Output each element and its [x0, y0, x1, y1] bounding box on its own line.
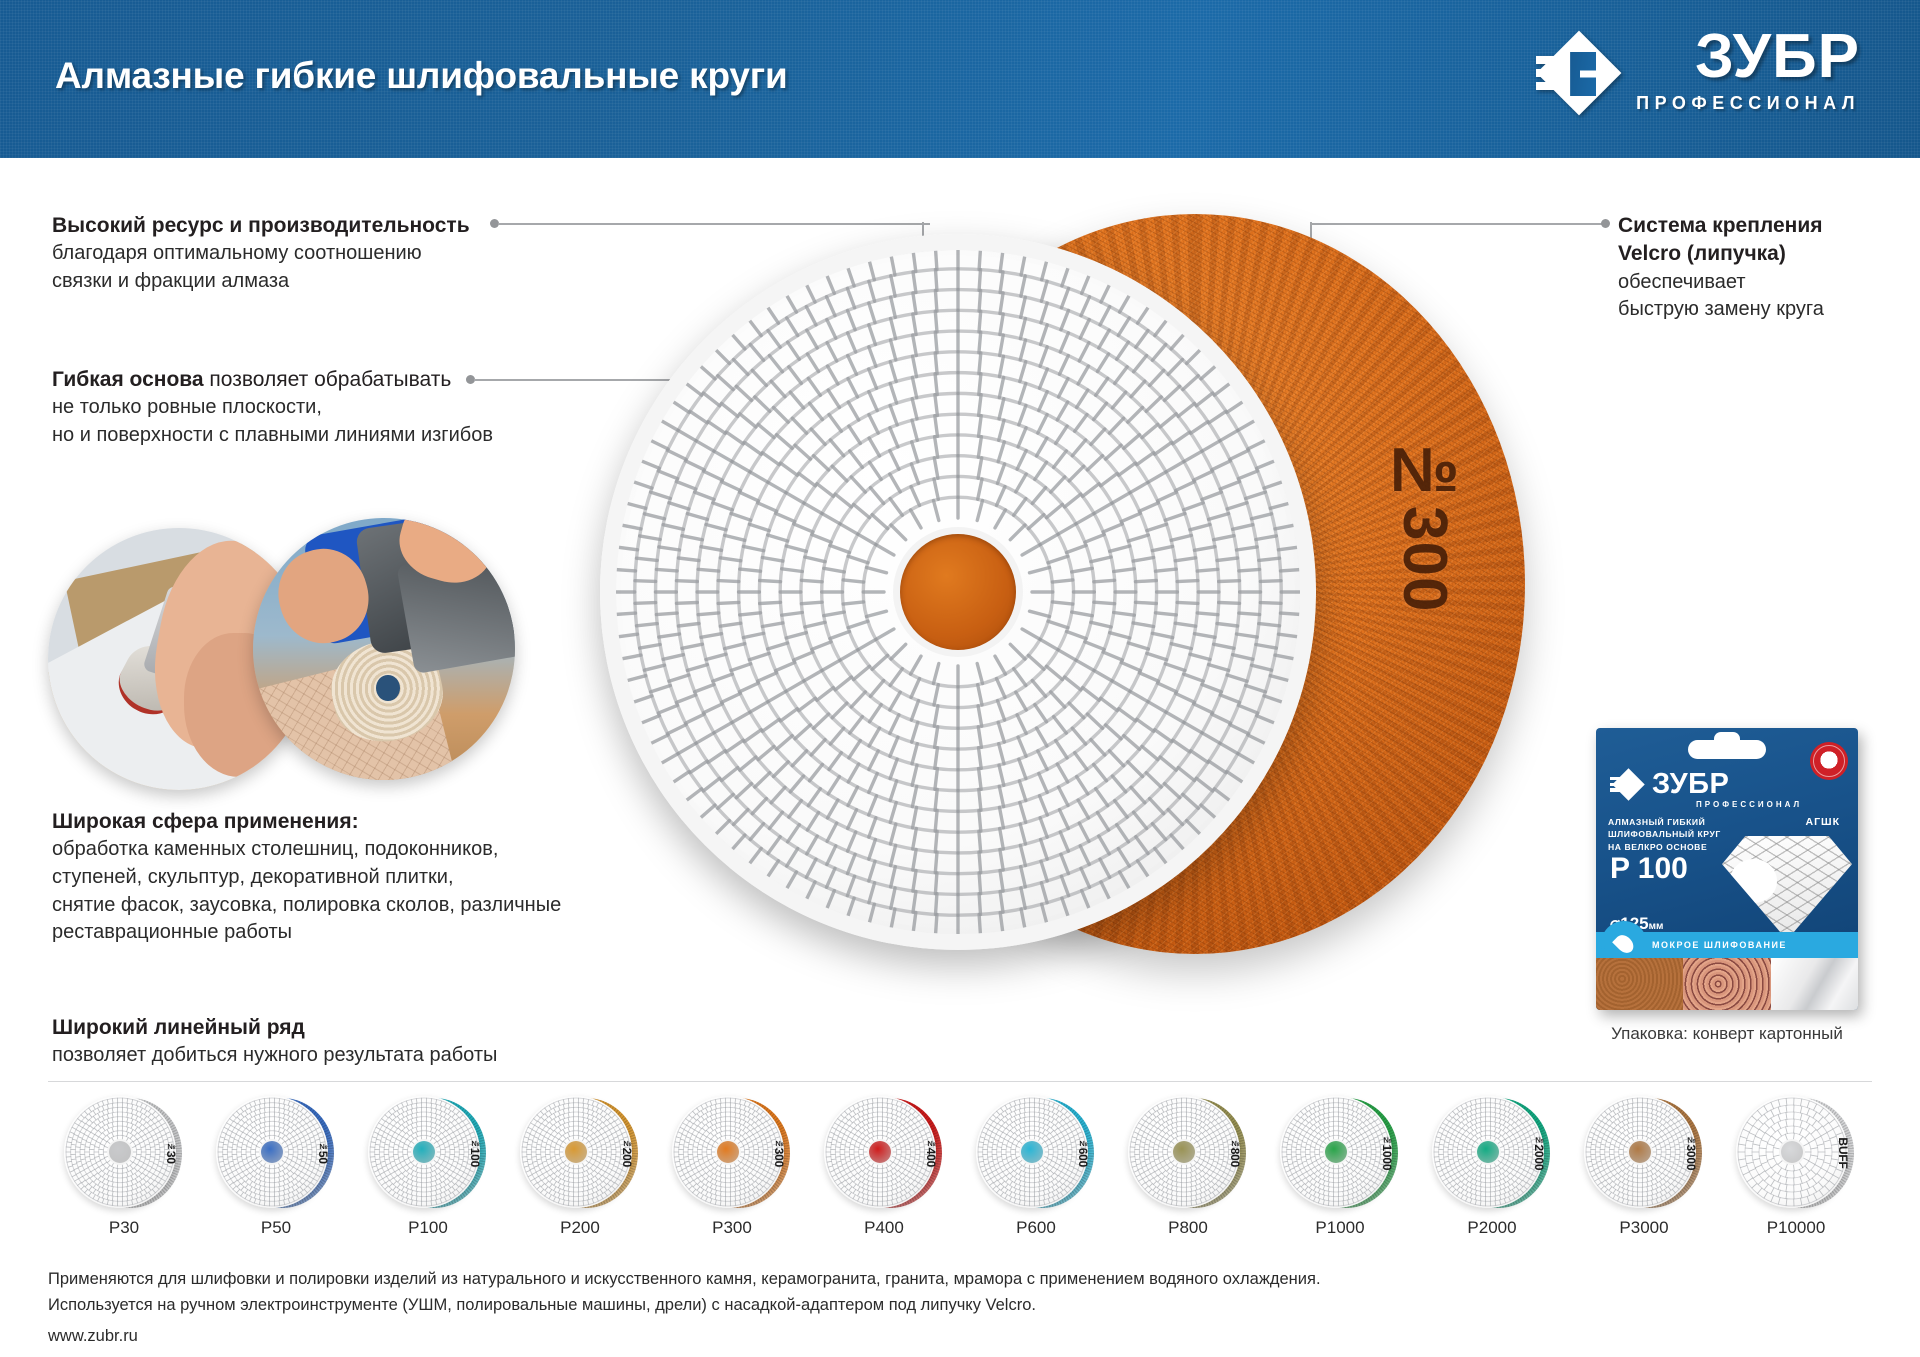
material-strip — [1596, 958, 1858, 1010]
lineup-item-p200[interactable]: №200P200 — [504, 1090, 656, 1260]
zubr-diamond-icon — [1610, 766, 1646, 802]
footer-line-2: Используется на ручном электроинструмент… — [48, 1292, 1748, 1318]
lineup-item-p2000[interactable]: №2000P2000 — [1416, 1090, 1568, 1260]
disc-center-hole — [1781, 1141, 1803, 1163]
callout-body: не только ровные плоскости, но и поверхн… — [52, 394, 522, 449]
lineup-item-p10000[interactable]: BUFFP10000 — [1720, 1090, 1872, 1260]
disc-center-hole — [413, 1141, 435, 1163]
disc-grit-label: P600 — [1016, 1218, 1056, 1238]
callout-body: благодаря оптимальному соотношению связк… — [52, 240, 522, 295]
page-header: Алмазные гибкие шлифовальные круги ЗУБР … — [0, 0, 1920, 158]
disc-thumbnail: №400 — [824, 1094, 944, 1212]
disc-grit-label: P400 — [864, 1218, 904, 1238]
wet-grinding-banner: МОКРОЕ ШЛИФОВАНИЕ — [1596, 932, 1858, 958]
package-block: ЗУБР ПРОФЕССИОНАЛ АЛМАЗНЫЙ ГИБКИЙ ШЛИФОВ… — [1596, 728, 1858, 1044]
disc-grit-mark: №50 — [316, 1142, 330, 1164]
callout-high-resource: Высокий ресурс и производительность благ… — [52, 212, 522, 296]
page-title: Алмазные гибкие шлифовальные круги — [55, 55, 788, 97]
disc-face — [1128, 1096, 1240, 1208]
disc-grit-mark: №1000 — [1380, 1136, 1394, 1171]
callout-title: Высокий ресурс и производительность — [52, 212, 522, 240]
lineup-item-p1000[interactable]: №1000P1000 — [1264, 1090, 1416, 1260]
disc-thumbnail: №800 — [1128, 1094, 1248, 1212]
disc-center-hole — [1173, 1141, 1195, 1163]
disc-thumbnail: №30 — [64, 1094, 184, 1212]
callout-title: Система крепления Velcro (липучка) — [1618, 212, 1908, 269]
brand-name: ЗУБР — [1695, 28, 1860, 87]
lineup-heading: Широкий линейный ряд позволяет добиться … — [52, 1014, 612, 1070]
disc-grit-label: P200 — [560, 1218, 600, 1238]
lineup-item-p400[interactable]: №400P400 — [808, 1090, 960, 1260]
disc-grit-mark: №800 — [1228, 1139, 1242, 1167]
disc-grit-label: P300 — [712, 1218, 752, 1238]
euro-hang-hole — [1688, 740, 1766, 759]
disc-thumbnail: №50 — [216, 1094, 336, 1212]
material-marble — [1771, 958, 1858, 1010]
disc-thumbnail: №200 — [520, 1094, 640, 1212]
lineup-heading-title: Широкий линейный ряд — [52, 1014, 612, 1042]
package-card: ЗУБР ПРОФЕССИОНАЛ АЛМАЗНЫЙ ГИБКИЙ ШЛИФОВ… — [1596, 728, 1858, 1010]
disc-center-hole — [717, 1141, 739, 1163]
wet-grinding-label: МОКРОЕ ШЛИФОВАНИЕ — [1652, 940, 1787, 950]
disc-grit-mark: №200 — [620, 1139, 634, 1167]
package-brand-name: ЗУБР — [1652, 770, 1729, 799]
package-product-code: АГШК — [1806, 816, 1841, 828]
disc-face — [976, 1096, 1088, 1208]
disc-thumbnail: №2000 — [1432, 1094, 1552, 1212]
hero-grit-mark: №300 — [1389, 436, 1460, 612]
disc-center-hole — [109, 1141, 131, 1163]
disc-grit-mark: №30 — [164, 1142, 178, 1164]
disc-face — [216, 1096, 328, 1208]
application-scope: Широкая сфера применения: обработка каме… — [52, 808, 612, 947]
brand-subtitle: ПРОФЕССИОНАЛ — [1636, 93, 1860, 114]
hero-product-image: №300 — [600, 196, 1500, 1006]
lineup-item-p3000[interactable]: №3000P3000 — [1568, 1090, 1720, 1260]
disc-center-hole — [261, 1141, 283, 1163]
disc-thumbnail: №3000 — [1584, 1094, 1704, 1212]
disc-center-hole — [565, 1141, 587, 1163]
zubr-diamond-icon — [1536, 30, 1622, 116]
disc-grit-label: P3000 — [1619, 1218, 1668, 1238]
package-grit: P 100 — [1610, 852, 1688, 886]
lineup-item-p50[interactable]: №50P50 — [200, 1090, 352, 1260]
callout-flexible-base: Гибкая основа позволяет обрабатывать не … — [52, 366, 522, 450]
callout-title: Гибкая основа позволяет обрабатывать — [52, 366, 522, 394]
disc-face — [1432, 1096, 1544, 1208]
disc-grit-mark: №3000 — [1684, 1136, 1698, 1171]
material-granite — [1683, 958, 1770, 1010]
disc-face — [1280, 1096, 1392, 1208]
lineup-item-p600[interactable]: №600P600 — [960, 1090, 1112, 1260]
diamond-pad-icon — [1722, 836, 1852, 940]
disc-thumbnail: №1000 — [1280, 1094, 1400, 1212]
infographic-page: Алмазные гибкие шлифовальные круги ЗУБР … — [0, 0, 1920, 1357]
disc-center-hole — [869, 1141, 891, 1163]
lineup-item-p300[interactable]: №300P300 — [656, 1090, 808, 1260]
disc-grit-label: P800 — [1168, 1218, 1208, 1238]
footer: Применяются для шлифовки и полировки изд… — [48, 1266, 1748, 1346]
disc-grit-label: P30 — [109, 1218, 139, 1238]
disc-center-hole — [1325, 1141, 1347, 1163]
footer-line-1: Применяются для шлифовки и полировки изд… — [48, 1266, 1748, 1292]
disc-thumbnail: №100 — [368, 1094, 488, 1212]
disc-grit-label: P10000 — [1767, 1218, 1826, 1238]
hero-center-hole — [900, 534, 1016, 650]
thumbs-up-icon — [1819, 751, 1839, 771]
disc-grit-mark: №400 — [924, 1139, 938, 1167]
website-link[interactable]: www.zubr.ru — [48, 1327, 1748, 1346]
disc-center-hole — [1021, 1141, 1043, 1163]
disc-grit-label: P50 — [261, 1218, 291, 1238]
disc-grit-mark: №100 — [468, 1139, 482, 1167]
made-in-russia-badge — [1810, 742, 1848, 780]
disc-center-hole — [1477, 1141, 1499, 1163]
lineup-row: №30P30№50P50№100P100№200P200№300P300№400… — [48, 1090, 1872, 1260]
photo-polisher-on-tile — [253, 518, 515, 780]
disc-face — [520, 1096, 632, 1208]
disc-face — [824, 1096, 936, 1208]
disc-grit-mark: №600 — [1076, 1139, 1090, 1167]
disc-face — [672, 1096, 784, 1208]
disc-grit-mark: BUFF — [1836, 1137, 1850, 1168]
hero-diamond-face — [600, 234, 1316, 950]
disc-grit-label: P2000 — [1467, 1218, 1516, 1238]
lineup-heading-body: позволяет добиться нужного результата ра… — [52, 1042, 612, 1070]
callout-body: обеспечивает быструю замену круга — [1618, 269, 1908, 324]
lineup-item-p30[interactable]: №30P30 — [48, 1090, 200, 1260]
brand-logo: ЗУБР ПРОФЕССИОНАЛ — [1536, 28, 1860, 128]
disc-thumbnail: BUFF — [1736, 1094, 1856, 1212]
lineup-item-p100[interactable]: №100P100 — [352, 1090, 504, 1260]
application-photos — [48, 518, 568, 798]
lineup-item-p800[interactable]: №800P800 — [1112, 1090, 1264, 1260]
callout-velcro-system: Система крепления Velcro (липучка) обесп… — [1618, 212, 1908, 324]
disc-grit-mark: №2000 — [1532, 1136, 1546, 1171]
application-body: обработка каменных столешниц, подоконник… — [52, 836, 612, 946]
disc-thumbnail: №600 — [976, 1094, 1096, 1212]
disc-face — [368, 1096, 480, 1208]
disc-face — [1584, 1096, 1696, 1208]
disc-grit-label: P100 — [408, 1218, 448, 1238]
material-sandstone — [1596, 958, 1683, 1010]
disc-face — [1736, 1096, 1848, 1208]
disc-face — [64, 1096, 176, 1208]
disc-grit-label: P1000 — [1315, 1218, 1364, 1238]
disc-grit-mark: №300 — [772, 1139, 786, 1167]
package-logo: ЗУБР — [1610, 766, 1729, 802]
application-title: Широкая сфера применения: — [52, 808, 612, 836]
disc-center-hole — [1629, 1141, 1651, 1163]
disc-thumbnail: №300 — [672, 1094, 792, 1212]
package-brand-subtitle: ПРОФЕССИОНАЛ — [1696, 800, 1802, 809]
package-caption: Упаковка: конверт картонный — [1596, 1024, 1858, 1044]
lineup-divider — [48, 1081, 1872, 1082]
